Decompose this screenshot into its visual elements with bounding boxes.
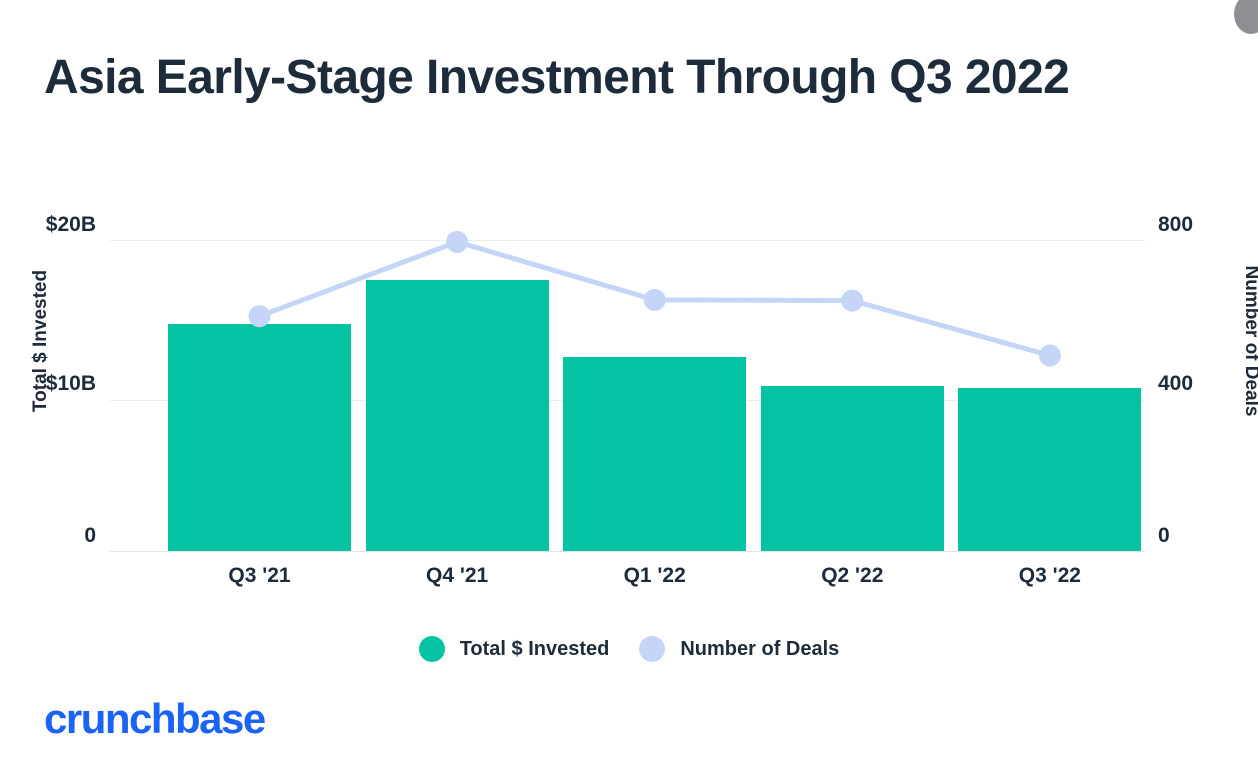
x-axis-label-Q122: Q1 '22 <box>555 564 755 588</box>
legend-dot-total-invested <box>419 636 445 662</box>
deals-marker-Q322 <box>1039 345 1061 367</box>
x-axis-label-Q322: Q3 '22 <box>950 564 1150 588</box>
deals-marker-Q122 <box>644 289 666 311</box>
legend-label: Number of Deals <box>680 638 839 661</box>
gridline-baseline <box>110 551 1145 552</box>
x-axis-label-Q421: Q4 '21 <box>357 564 557 588</box>
line-series <box>110 240 1145 551</box>
legend-label: Total $ Invested <box>460 638 610 661</box>
deals-marker-Q421 <box>446 231 468 253</box>
brand-logo-crunchbase: crunchbase <box>44 695 265 743</box>
legend-dot-number-of-deals <box>639 636 665 662</box>
page-title: Asia Early-Stage Investment Through Q3 2… <box>44 50 1234 106</box>
plot-area <box>110 240 1145 551</box>
legend-item-total-invested[interactable]: Total $ Invested <box>419 636 610 662</box>
y-axis-tick-right-800: 800 <box>1158 213 1193 237</box>
y-axis-title-right: Number of Deals <box>1240 226 1258 456</box>
chart-legend: Total $ InvestedNumber of Deals <box>0 636 1258 662</box>
y-axis-tick-right-400: 400 <box>1158 372 1193 396</box>
y-axis-tick-left-0: 0 <box>84 524 96 548</box>
deals-marker-Q321 <box>249 305 271 327</box>
y-axis-title-left: Total $ Invested <box>30 226 52 456</box>
chart-page: Asia Early-Stage Investment Through Q3 2… <box>0 0 1258 759</box>
x-axis-label-Q321: Q3 '21 <box>160 564 360 588</box>
deals-marker-group <box>249 231 1061 367</box>
legend-item-number-of-deals[interactable]: Number of Deals <box>639 636 839 662</box>
y-axis-tick-left-10b: $10B <box>46 372 96 396</box>
y-axis-tick-right-0: 0 <box>1158 524 1170 548</box>
y-axis-tick-left-20b: $20B <box>46 213 96 237</box>
corner-circle-decoration <box>1234 0 1258 34</box>
x-axis-label-Q222: Q2 '22 <box>752 564 952 588</box>
deals-marker-Q222 <box>841 290 863 312</box>
